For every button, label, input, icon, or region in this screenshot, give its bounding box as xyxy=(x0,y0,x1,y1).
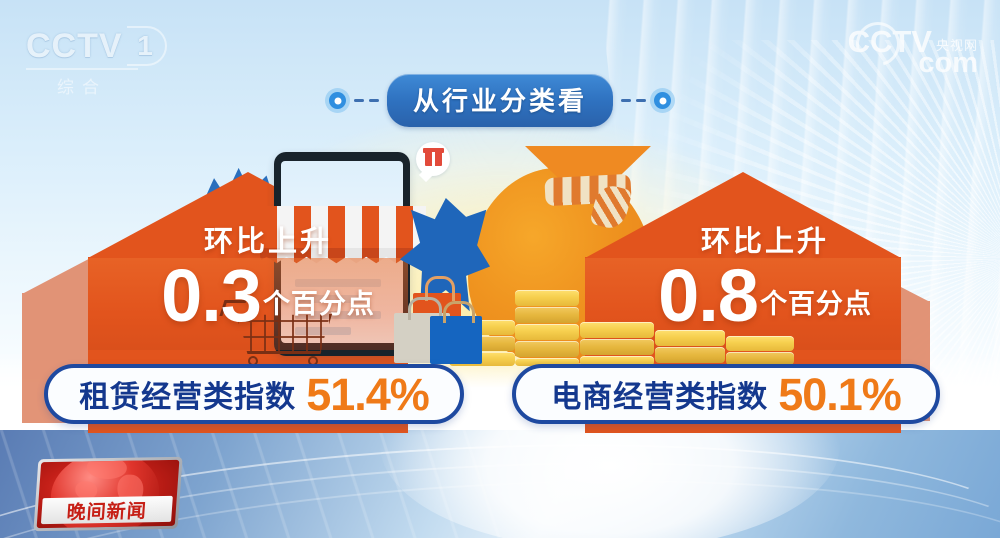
index-pill-ecommerce: 电商经营类指数 50.1% xyxy=(512,364,940,424)
coin-stack-item xyxy=(515,324,579,340)
page-title-text: 从行业分类看 xyxy=(413,87,587,117)
decoration-dot-right-icon xyxy=(654,92,671,109)
decoration-dashes-right xyxy=(621,99,646,102)
stat-card-leasing: 环比上升 0.3 个百分点 xyxy=(120,218,416,330)
coin-stack-item xyxy=(726,336,794,351)
program-name-bar: 晚间新闻 xyxy=(41,496,173,524)
decoration-dashes-left xyxy=(354,99,379,102)
channel-logo: CCTV 1 综合 xyxy=(26,26,167,98)
dash-icon xyxy=(354,99,364,102)
index-label: 租赁经营类指数 xyxy=(79,372,296,416)
channel-sub-label: 综合 xyxy=(26,73,138,98)
change-value: 0.8 xyxy=(658,262,758,330)
coin-stack-item xyxy=(515,290,579,306)
dash-icon xyxy=(369,99,379,102)
decoration-dot-left-icon xyxy=(329,92,346,109)
coin-stack-item xyxy=(515,341,579,357)
coin-stack-item xyxy=(580,339,654,355)
index-pill-leasing: 租赁经营类指数 51.4% xyxy=(44,364,464,424)
program-name-text: 晚间新闻 xyxy=(66,496,148,524)
channel-number: 1 xyxy=(127,26,167,66)
change-value: 0.3 xyxy=(161,262,261,330)
change-unit: 个百分点 xyxy=(263,282,375,330)
gift-bubble-badge xyxy=(416,142,450,176)
coin-stack-item xyxy=(655,347,725,363)
coin-stack-item xyxy=(515,307,579,323)
index-value: 51.4% xyxy=(306,372,429,417)
cctv-dot-com-watermark: CCTV 央视网 com xyxy=(848,26,978,78)
channel-logo-text: CCTV xyxy=(26,27,123,66)
program-logo: 晚间新闻 xyxy=(33,457,182,532)
tv-broadcast-screen: CCTV 1 综合 CCTV 央视网 com 从行业分类看 xyxy=(0,0,1000,538)
channel-logo-underline xyxy=(26,68,138,70)
shopping-bag-blue-icon xyxy=(430,316,482,364)
page-title: 从行业分类看 xyxy=(387,74,613,127)
index-label: 电商经营类指数 xyxy=(551,372,768,416)
section-title-group: 从行业分类看 xyxy=(329,74,671,127)
program-logo-inner: 晚间新闻 xyxy=(37,460,180,528)
gift-icon xyxy=(425,152,442,166)
index-value: 50.1% xyxy=(778,372,901,417)
dash-icon xyxy=(621,99,631,102)
dash-icon xyxy=(636,99,646,102)
stat-card-ecommerce: 环比上升 0.8 个百分点 xyxy=(617,218,913,330)
program-logo-frame: 晚间新闻 xyxy=(33,457,182,532)
change-unit: 个百分点 xyxy=(760,282,872,330)
